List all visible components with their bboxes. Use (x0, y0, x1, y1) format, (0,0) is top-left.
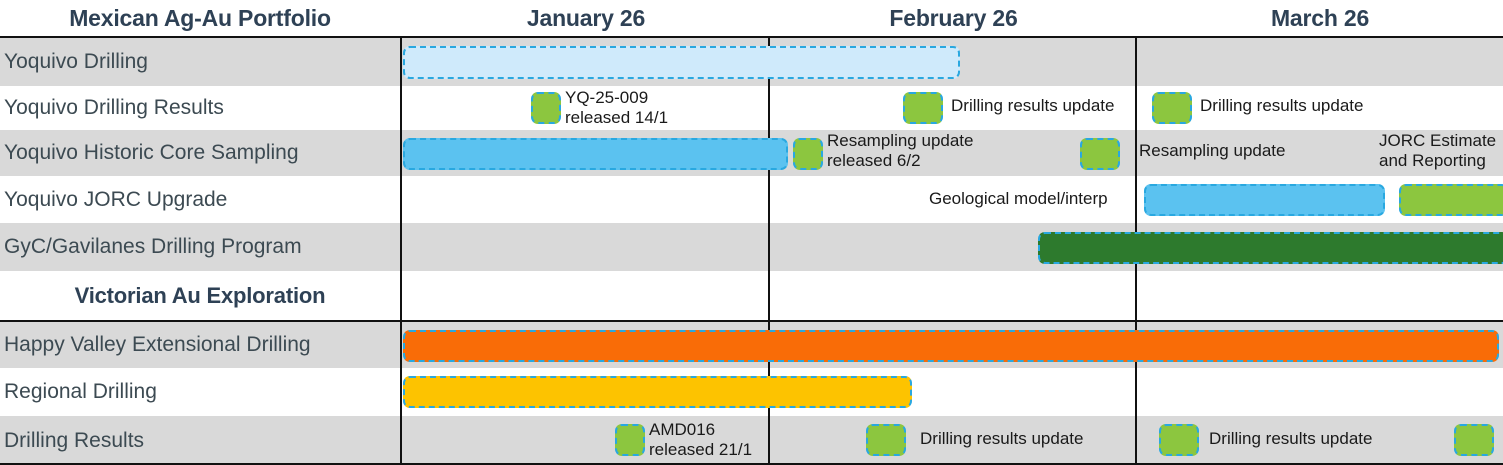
vrule-column-start-lower (400, 320, 402, 465)
row-label-yoquivo-drilling: Yoquivo Drilling (4, 38, 398, 86)
bar-regional-drilling[interactable] (403, 376, 912, 408)
bar-gyc-gavilanes-drilling-program[interactable] (1038, 232, 1503, 264)
bar-yoquivo-jorc-upgrade[interactable] (1144, 184, 1385, 216)
note-resampling-update-mar: Resampling update (1139, 141, 1285, 161)
milestone-amd016[interactable] (615, 424, 645, 456)
bar-happy-valley-extensional-drilling[interactable] (403, 330, 1499, 362)
vrule-column-start (400, 36, 402, 322)
note-amd016: AMD016 released 21/1 (649, 420, 752, 460)
section-title-victorian: Victorian Au Exploration (0, 271, 400, 320)
milestone-drilling-results-update-feb[interactable] (903, 92, 943, 124)
note-yq-25-009: YQ-25-009 released 14/1 (565, 88, 668, 128)
bar-jorc-estimate-and-reporting[interactable] (1399, 184, 1503, 216)
milestone-drilling-results-update-mar[interactable] (1152, 92, 1192, 124)
row-label-gyc-gavilanes-drilling-program: GyC/Gavilanes Drilling Program (4, 223, 398, 271)
header-month-march: March 26 (1137, 0, 1503, 38)
header-month-january: January 26 (402, 0, 770, 38)
row-label-regional-drilling: Regional Drilling (4, 368, 398, 416)
header-portfolio-title: Mexican Ag-Au Portfolio (0, 0, 400, 38)
note-drilling-results-update-feb-2: Drilling results update (920, 429, 1083, 449)
note-drilling-results-update-mar-2: Drilling results update (1209, 429, 1372, 449)
timeline-header: Mexican Ag-Au Portfolio January 26 Febru… (0, 0, 1503, 38)
row-label-yoquivo-drilling-results: Yoquivo Drilling Results (4, 86, 398, 130)
row-label-yoquivo-jorc-upgrade: Yoquivo JORC Upgrade (4, 176, 398, 223)
note-drilling-results-update-feb: Drilling results update (951, 96, 1114, 116)
row-label-drilling-results: Drilling Results (4, 416, 398, 465)
note-drilling-results-update-mar: Drilling results update (1200, 96, 1363, 116)
milestone-drilling-results-update-mar-2[interactable] (1159, 424, 1199, 456)
milestone-drilling-results-update-apr[interactable] (1454, 424, 1494, 456)
hrule-victorian (0, 320, 1503, 322)
note-jorc-estimate-and-reporting: JORC Estimate and Reporting (1379, 131, 1496, 171)
milestone-yq-25-009[interactable] (531, 92, 561, 124)
vrule-february-march (1135, 36, 1137, 322)
row-label-yoquivo-historic-core-sampling: Yoquivo Historic Core Sampling (4, 130, 398, 176)
note-geological-model-interp: Geological model/interp (929, 189, 1108, 209)
gantt-chart: Mexican Ag-Au Portfolio January 26 Febru… (0, 0, 1503, 465)
hrule-top (0, 36, 1503, 38)
header-month-february: February 26 (770, 0, 1137, 38)
milestone-resampling-update-released[interactable] (793, 138, 823, 170)
milestone-resampling-update-mar[interactable] (1080, 138, 1120, 170)
bar-yoquivo-historic-core-sampling[interactable] (403, 138, 788, 170)
note-resampling-update-released: Resampling update released 6/2 (827, 131, 973, 171)
row-section-victorian: Victorian Au Exploration (0, 271, 1503, 320)
bar-yoquivo-drilling[interactable] (403, 46, 960, 79)
row-label-happy-valley-extensional-drilling: Happy Valley Extensional Drilling (4, 322, 398, 368)
milestone-drilling-results-update-feb-2[interactable] (866, 424, 906, 456)
